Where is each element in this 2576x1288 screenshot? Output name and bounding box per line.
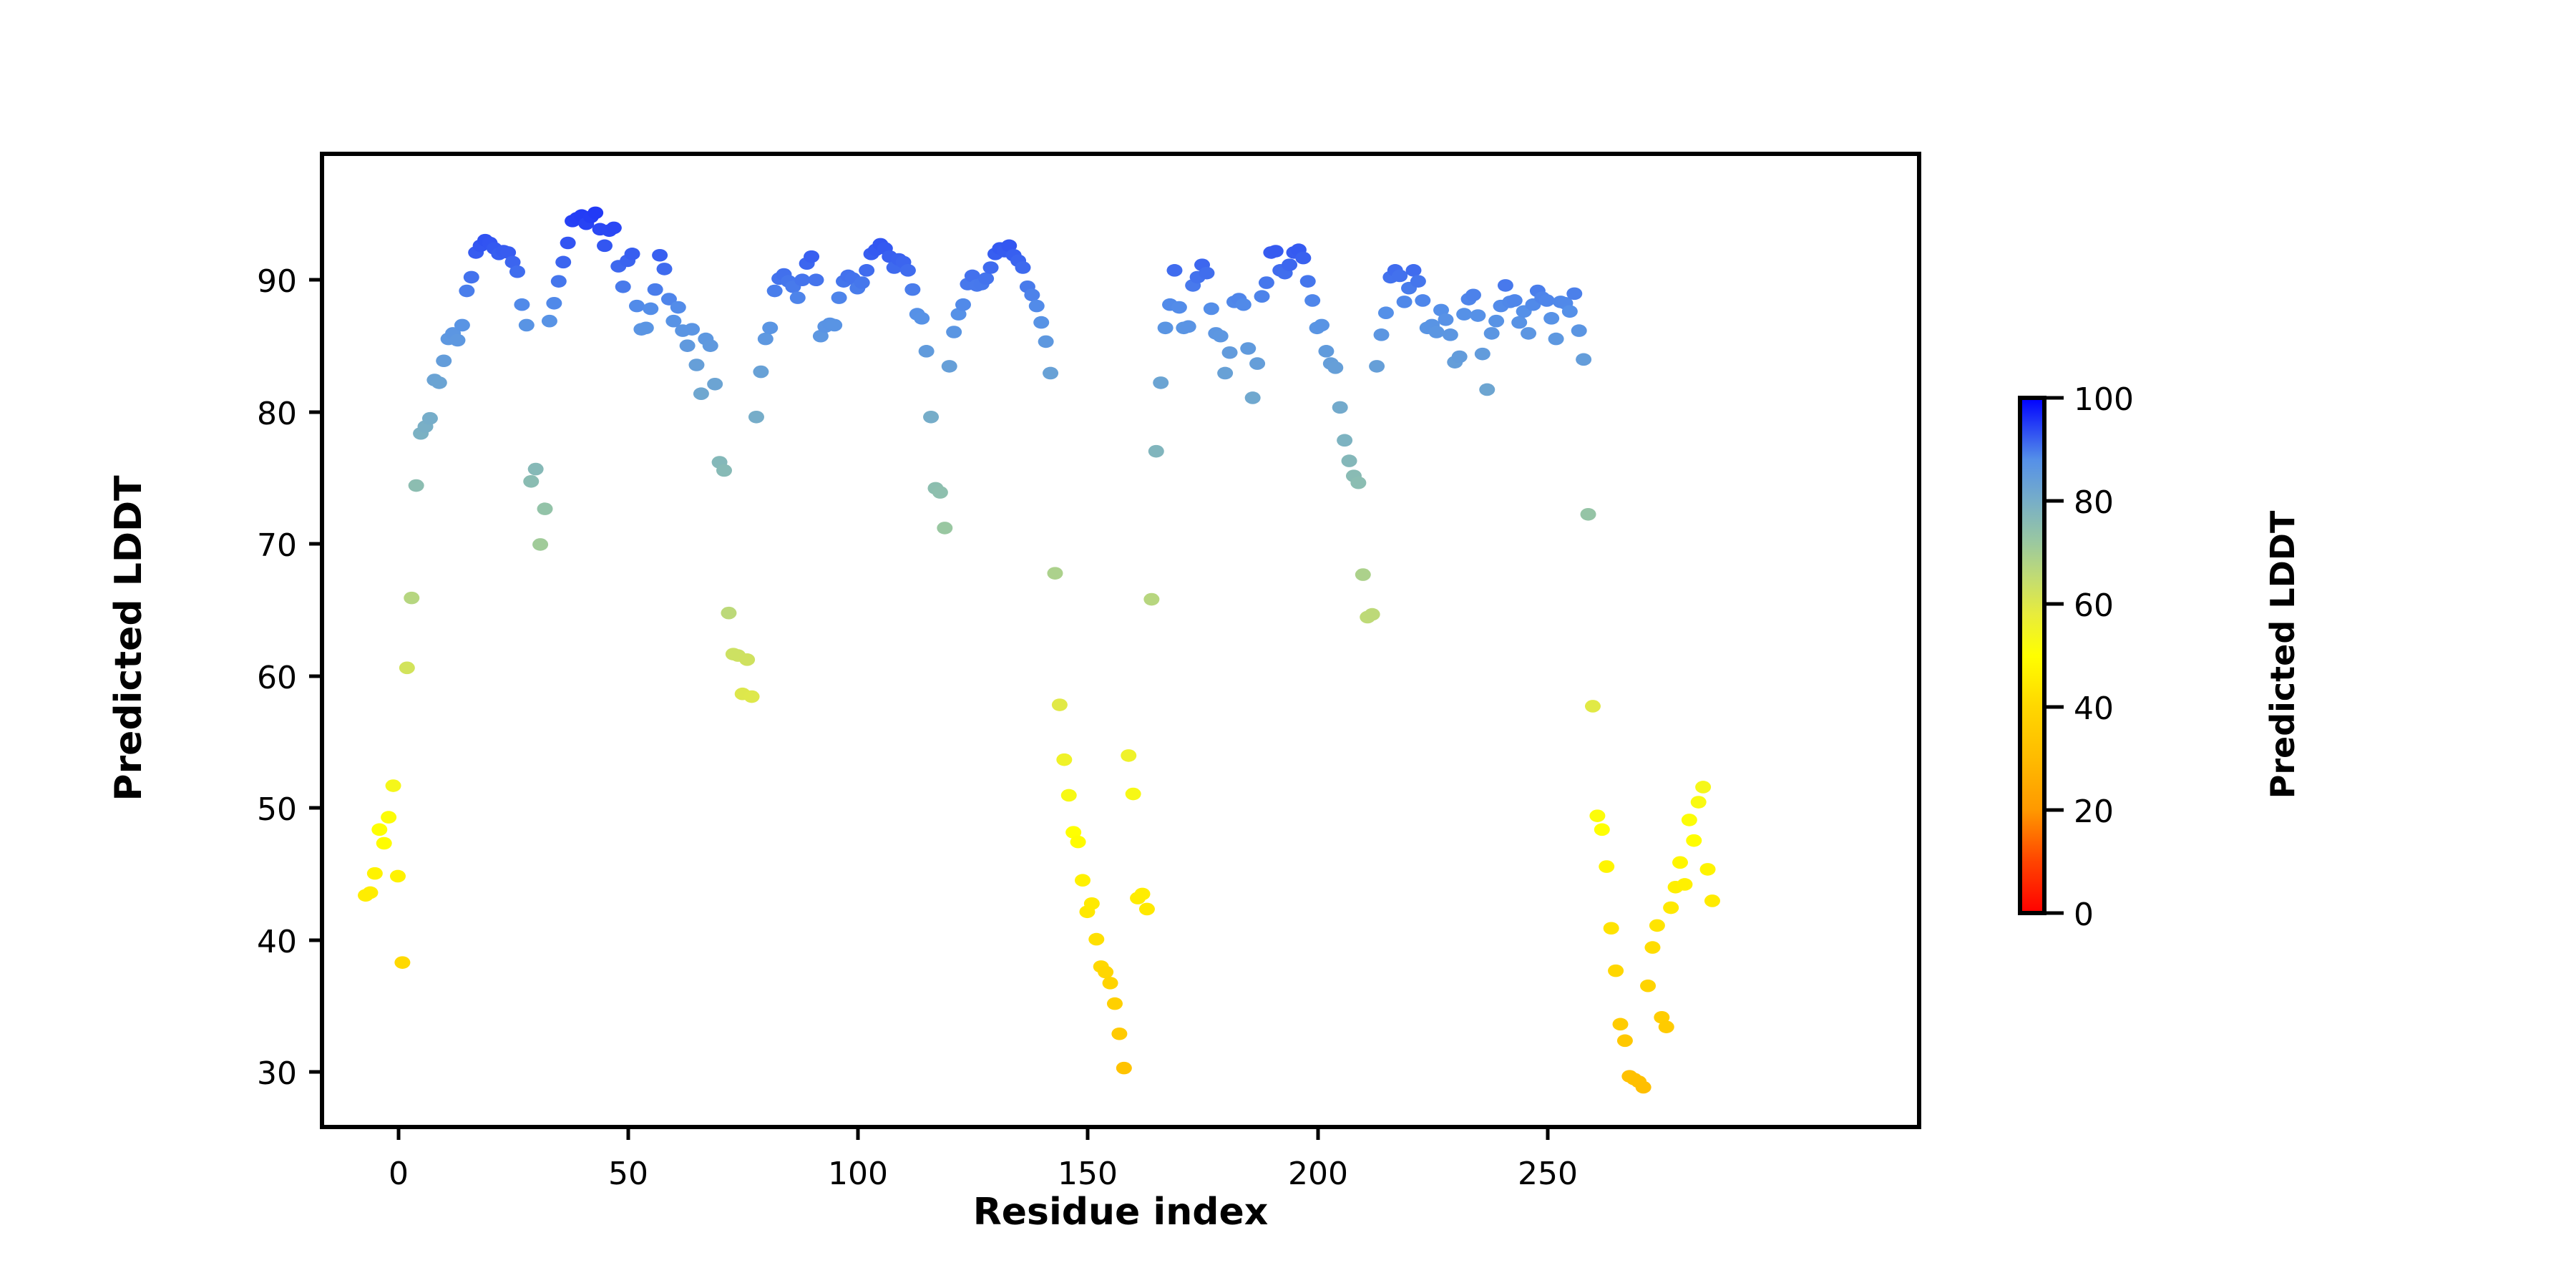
scatter-point	[1153, 376, 1169, 389]
scatter-point	[707, 378, 723, 391]
scatter-point	[449, 334, 465, 347]
scatter-point	[1677, 878, 1692, 891]
scatter-point	[983, 261, 999, 274]
scatter-point	[1029, 300, 1045, 313]
scatter-point	[1254, 290, 1270, 303]
scatter-point	[1539, 294, 1555, 307]
scatter-point	[532, 538, 548, 551]
scatter-point	[1337, 434, 1352, 447]
scatter-point	[1056, 753, 1072, 766]
scatter-point	[1672, 857, 1688, 869]
x-tick-label: 100	[828, 1156, 888, 1192]
scatter-point	[826, 319, 842, 332]
scatter-point	[721, 607, 736, 620]
y-tick-40: 40	[257, 924, 322, 960]
scatter-point	[1374, 328, 1390, 341]
scatter-point	[1415, 294, 1430, 307]
colorbar-tick-80: 80	[2044, 484, 2114, 521]
y-tick-30: 30	[257, 1055, 322, 1092]
scatter-point	[937, 522, 952, 535]
scatter-point	[399, 662, 415, 675]
scatter-point	[923, 411, 939, 424]
scatter-point	[1649, 919, 1665, 932]
scatter-point	[744, 691, 760, 703]
x-tick-label: 150	[1058, 1156, 1118, 1192]
scatter-point	[555, 256, 571, 269]
scatter-point	[371, 824, 387, 836]
y-tick-label: 60	[257, 660, 297, 696]
scatter-point	[1543, 312, 1559, 325]
scatter-point	[546, 297, 562, 310]
scatter-point	[367, 867, 383, 880]
scatter-point	[946, 326, 962, 338]
scatter-point	[597, 240, 613, 253]
scatter-point	[1484, 327, 1500, 340]
x-tick-250: 250	[1518, 1127, 1578, 1192]
x-tick-0: 0	[389, 1127, 409, 1192]
scatter-point	[1033, 316, 1049, 329]
scatter-point	[1581, 508, 1596, 521]
y-tick-label: 90	[257, 263, 297, 300]
y-tick-label: 80	[257, 396, 297, 432]
scatter-point	[1594, 824, 1610, 836]
scatter-point	[1452, 351, 1468, 364]
scatter-point	[459, 285, 474, 298]
scatter-point	[519, 319, 535, 332]
scatter-point	[381, 811, 396, 824]
colorbar-gradient	[2020, 398, 2044, 913]
scatter-point	[409, 479, 424, 492]
scatter-point	[1355, 568, 1371, 581]
scatter-point	[1052, 698, 1068, 711]
colorbar-tick-0: 0	[2044, 897, 2094, 933]
scatter-point	[688, 358, 704, 371]
scatter-point	[1332, 401, 1348, 414]
scatter-point	[1410, 275, 1426, 288]
scatter-point	[670, 301, 686, 314]
scatter-point	[1236, 298, 1252, 311]
y-axis: 30 40 50 60 70 80 90	[257, 263, 322, 1092]
scatter-point	[703, 339, 718, 352]
scatter-point	[1548, 333, 1564, 346]
scatter-point	[1015, 261, 1031, 274]
colorbar-tick-label: 20	[2074, 794, 2114, 830]
scatter-point	[904, 283, 920, 296]
scatter-point	[1222, 346, 1238, 359]
scatter-point	[1585, 700, 1601, 713]
scatter-point	[1259, 276, 1274, 289]
x-tick-label: 50	[608, 1156, 648, 1192]
scatter-point	[1318, 345, 1334, 358]
scatter-point	[1636, 1081, 1652, 1094]
scatter-point	[1378, 306, 1394, 319]
scatter-point	[1075, 874, 1091, 887]
scatter-point	[638, 321, 654, 334]
scatter-point	[739, 653, 755, 666]
scatter-point	[1576, 353, 1591, 366]
colorbar-tick-label: 40	[2074, 691, 2114, 727]
scatter-point	[1088, 933, 1104, 946]
y-tick-label: 70	[257, 527, 297, 564]
x-tick-50: 50	[608, 1127, 648, 1192]
scatter-point	[1599, 860, 1614, 873]
scatter-point	[1217, 367, 1233, 380]
scatter-point	[1295, 252, 1311, 265]
scatter-point	[1562, 305, 1578, 318]
scatter-point	[1061, 789, 1077, 802]
scatter-point	[1024, 289, 1040, 302]
scatter-point	[831, 291, 847, 304]
scatter-point	[1488, 315, 1504, 328]
scatter-point	[932, 486, 948, 499]
scatter-point	[537, 502, 553, 515]
colorbar-title: Predicted LDDT	[2263, 483, 2302, 826]
colorbar-tick-20: 20	[2044, 794, 2114, 830]
scatter-point	[390, 870, 406, 883]
scatter-point	[376, 837, 392, 850]
y-tick-60: 60	[257, 660, 322, 696]
scatter-point	[1047, 567, 1063, 580]
scatter-point	[1038, 336, 1054, 348]
scatter-point	[978, 273, 994, 286]
scatter-point	[629, 300, 645, 313]
scatter-point	[1126, 788, 1141, 801]
scatter-point	[1070, 836, 1086, 849]
scatter-point	[790, 291, 806, 304]
scatter-point	[1443, 328, 1458, 341]
scatter-point	[767, 285, 783, 298]
scatter-point	[1470, 309, 1485, 322]
scatter-point	[1392, 270, 1407, 283]
scatter-point	[1268, 245, 1284, 258]
scatter-point	[1166, 264, 1182, 277]
scatter-point	[587, 207, 603, 220]
scatter-point	[1659, 1020, 1674, 1033]
scatter-point	[560, 237, 576, 250]
scatter-point	[955, 298, 971, 311]
scatter-point	[1429, 326, 1445, 338]
scatter-point	[1695, 781, 1711, 794]
scatter-point	[464, 271, 479, 284]
scatter-point	[1686, 834, 1702, 847]
scatter-point	[1107, 997, 1123, 1010]
scatter-point	[1617, 1035, 1633, 1048]
scatter-point	[394, 956, 410, 969]
y-tick-90: 90	[257, 263, 322, 300]
scatter-point	[404, 592, 419, 605]
scatter-point	[386, 779, 401, 792]
scatter-point	[431, 376, 447, 389]
scatter-point	[436, 354, 452, 367]
y-tick-80: 80	[257, 396, 322, 432]
scatter-point	[748, 411, 764, 424]
scatter-point	[854, 276, 870, 289]
scatter-point	[1682, 814, 1697, 826]
scatter-point	[1135, 888, 1151, 901]
scatter-point	[1640, 980, 1656, 992]
scatter-point	[1365, 608, 1380, 621]
x-axis: 0 50 100 150 200 250	[389, 1127, 1578, 1192]
scatter-point	[1327, 361, 1343, 374]
scatter-point	[1139, 903, 1155, 916]
scatter-point	[804, 250, 819, 263]
scatter-point	[1369, 360, 1385, 373]
scatter-point	[606, 222, 622, 235]
scatter-point	[1456, 308, 1472, 321]
scatter-point	[1663, 902, 1679, 914]
x-tick-label: 250	[1518, 1156, 1578, 1192]
scatter-point	[528, 463, 544, 476]
scatter-point	[362, 887, 378, 899]
x-tick-100: 100	[828, 1127, 888, 1192]
x-axis-title: Residue index	[322, 1191, 1919, 1234]
scatter-point	[1171, 301, 1187, 314]
scatter-point	[1143, 593, 1159, 606]
scatter-point	[1204, 303, 1219, 316]
y-tick-70: 70	[257, 527, 322, 564]
scatter-point	[523, 475, 539, 488]
scatter-point	[1507, 294, 1523, 307]
scatter-point	[942, 360, 957, 373]
scatter-point	[514, 298, 530, 311]
scatter-point	[1397, 296, 1413, 308]
scatter-point	[1116, 1062, 1132, 1075]
scatter-point	[1475, 348, 1491, 361]
colorbar-tick-label: 60	[2074, 587, 2114, 624]
scatter-point	[542, 315, 557, 328]
scatter-point	[1604, 922, 1619, 935]
scatter-point	[1511, 316, 1527, 329]
colorbar-tick-60: 60	[2044, 587, 2114, 624]
colorbar-tick-label: 100	[2074, 381, 2134, 418]
scatter-point	[1498, 279, 1513, 292]
scatter-point	[808, 273, 824, 286]
scatter-point	[648, 283, 663, 296]
scatter-point	[1589, 809, 1605, 822]
figure-canvas: 30 40 50 60 70 80 90 0 50 100 150 200 25…	[0, 0, 2576, 1288]
y-tick-label: 50	[257, 791, 297, 828]
scatter-point	[716, 464, 732, 477]
scatter-point	[1304, 294, 1320, 307]
scatter-point	[1405, 264, 1421, 277]
scatter-point	[1704, 894, 1720, 907]
y-axis-title: Predicted LDDT	[107, 467, 150, 810]
scatter-point	[625, 248, 640, 260]
x-tick-label: 0	[389, 1156, 409, 1192]
scatter-point	[1199, 267, 1214, 280]
scatter-point	[422, 412, 438, 425]
scatter-point	[1121, 749, 1136, 762]
scatter-point	[509, 265, 525, 278]
scatter-point	[1240, 342, 1256, 355]
colorbar: 0 20 40 60 80 100	[2020, 381, 2134, 933]
scatter-point	[1571, 324, 1587, 337]
scatter-point	[1342, 454, 1357, 467]
scatter-point	[657, 263, 673, 275]
scatter-point	[1158, 321, 1174, 334]
scatter-point	[1521, 327, 1536, 340]
scatter-point	[1084, 897, 1100, 910]
colorbar-tick-100: 100	[2044, 381, 2134, 418]
scatter-point	[1181, 321, 1196, 333]
scatter-point	[762, 321, 778, 334]
scatter-plot-svg: 30 40 50 60 70 80 90 0 50 100 150 200 25…	[0, 0, 2576, 1288]
scatter-point	[1613, 1018, 1629, 1031]
scatter-point	[1700, 863, 1716, 876]
x-tick-200: 200	[1288, 1127, 1348, 1192]
scatter-point	[914, 312, 930, 325]
scatter-point	[1103, 977, 1118, 990]
scatter-point	[652, 249, 668, 262]
scatter-point	[615, 280, 631, 293]
scatter-point	[753, 366, 769, 379]
scatter-point	[1098, 966, 1113, 979]
scatter-point	[454, 319, 470, 332]
scatter-point	[900, 264, 916, 277]
scatter-point	[1300, 275, 1316, 288]
scatter-point	[1691, 796, 1707, 809]
plot-area-background	[322, 154, 1919, 1127]
scatter-point	[1148, 445, 1164, 458]
scatter-point	[1314, 319, 1330, 332]
scatter-point	[1350, 477, 1366, 489]
scatter-point	[859, 264, 874, 277]
scatter-point	[643, 303, 658, 316]
scatter-point	[1249, 357, 1265, 370]
colorbar-tick-40: 40	[2044, 691, 2114, 727]
scatter-point	[693, 387, 709, 400]
scatter-point	[1566, 288, 1582, 301]
scatter-point	[680, 339, 696, 352]
scatter-point	[1111, 1028, 1127, 1040]
scatter-point	[1282, 258, 1297, 271]
scatter-point	[1245, 391, 1261, 404]
scatter-point	[1465, 289, 1481, 302]
scatter-point	[1479, 384, 1495, 396]
scatter-point	[1644, 941, 1660, 954]
scatter-point	[1043, 367, 1058, 380]
x-tick-150: 150	[1058, 1127, 1118, 1192]
y-tick-label: 40	[257, 924, 297, 960]
y-tick-50: 50	[257, 791, 322, 828]
scatter-point	[794, 273, 810, 286]
scatter-point	[684, 323, 700, 336]
scatter-point	[758, 333, 774, 346]
scatter-point	[551, 275, 567, 288]
y-tick-label: 30	[257, 1055, 297, 1092]
scatter-point	[1213, 330, 1229, 343]
x-tick-label: 200	[1288, 1156, 1348, 1192]
scatter-point	[1438, 313, 1453, 326]
colorbar-tick-label: 80	[2074, 484, 2114, 521]
scatter-point	[919, 345, 935, 358]
colorbar-tick-label: 0	[2074, 897, 2094, 933]
scatter-point	[1608, 965, 1624, 977]
